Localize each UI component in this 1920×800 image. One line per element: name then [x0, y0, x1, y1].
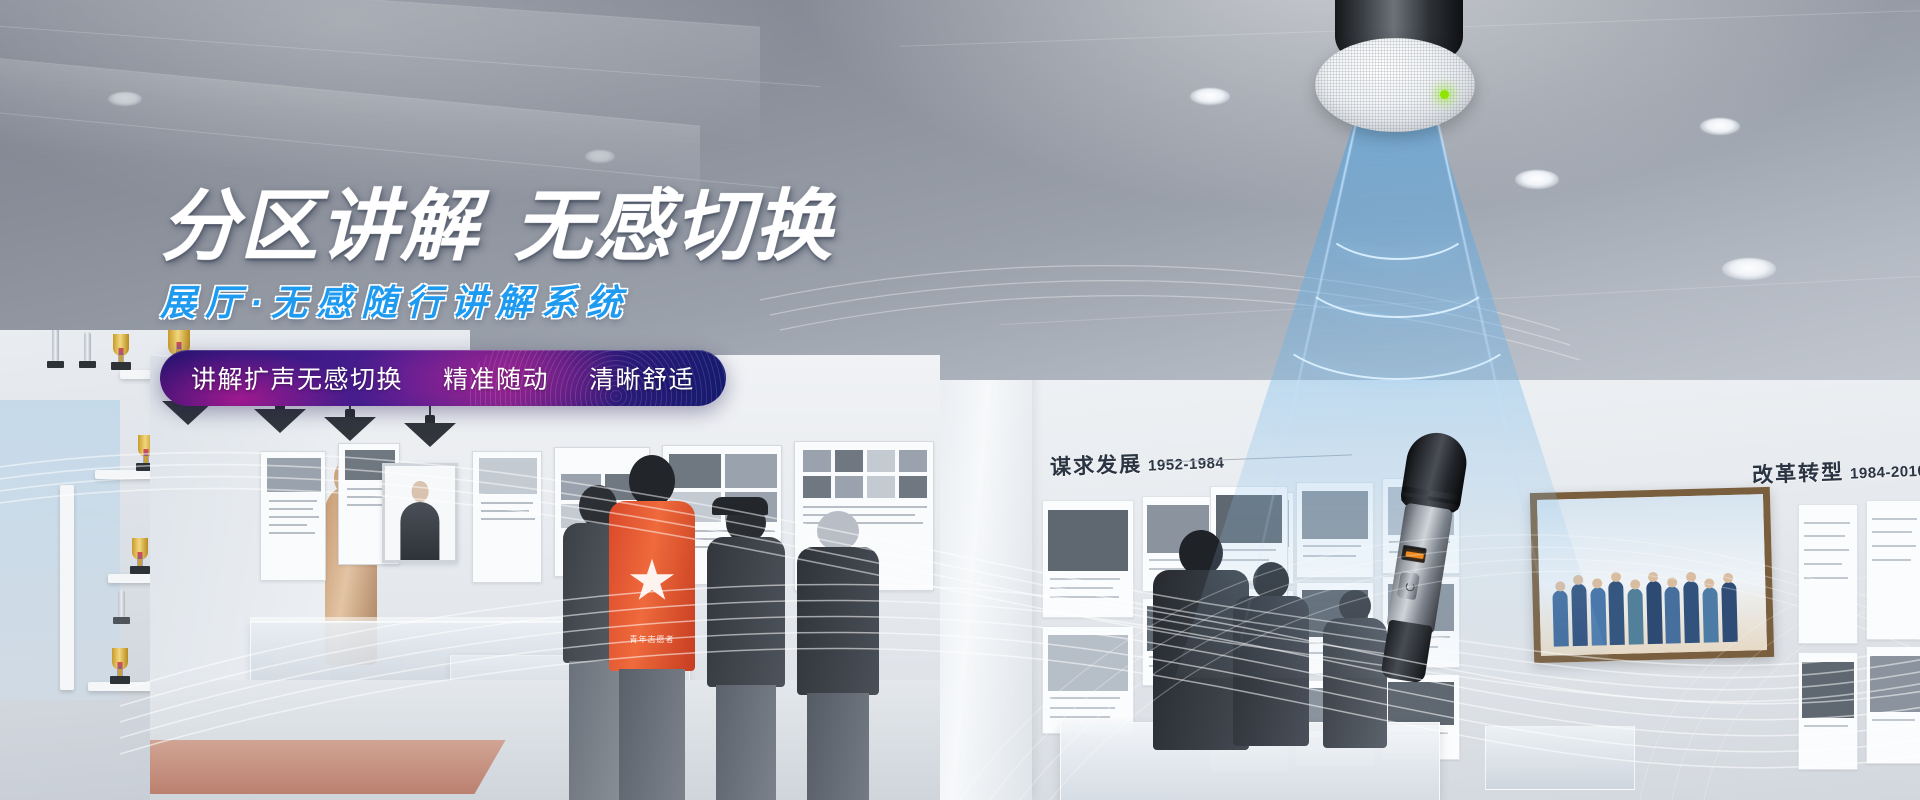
banner-copy-block: 分区讲解无感切换 展厅·无感随行讲解系统 讲解扩声无感切换 精准随动 清晰舒适	[160, 185, 834, 406]
floor-runner	[150, 740, 506, 794]
trophy-icon	[110, 334, 132, 372]
downlight-icon	[1515, 170, 1559, 189]
feature-pill: 讲解扩声无感切换 精准随动 清晰舒适	[160, 350, 726, 406]
sound-wave-arc	[1268, 258, 1526, 380]
shelf-upright	[60, 485, 74, 690]
feature-item-1: 讲解扩声无感切换	[191, 360, 403, 396]
page-title: 分区讲解无感切换	[160, 185, 834, 268]
award-statuette-icon	[84, 332, 91, 362]
display-case	[1485, 726, 1635, 790]
mic-battery-cap	[1380, 619, 1433, 683]
history-panel	[1042, 626, 1134, 734]
visitor-person	[796, 511, 880, 800]
mic-power-button[interactable]	[1396, 571, 1421, 602]
history-panel	[1866, 500, 1920, 640]
volunteer-star-emblem	[629, 559, 675, 603]
history-panel	[1798, 652, 1858, 770]
title-line-1: 分区讲解	[160, 182, 480, 270]
downlight-icon	[585, 150, 615, 163]
award-statuette-icon	[118, 590, 125, 618]
feature-item-3: 清晰舒适	[589, 360, 695, 396]
award-statuette-icon	[52, 330, 59, 362]
speaker-grill	[1315, 38, 1475, 132]
exhibition-hall-center: 青年志愿者	[150, 355, 940, 800]
downlight-icon	[108, 92, 142, 106]
headline-years: 1984-2010	[1850, 463, 1920, 483]
exhibit-headline-right: 改革转型1984-2010	[1751, 453, 1920, 490]
portrait-photo	[382, 463, 458, 563]
exhibit-panel	[260, 451, 326, 581]
visitor-person	[706, 503, 786, 800]
history-panel	[1866, 646, 1920, 764]
downlight-icon	[1722, 258, 1776, 280]
mic-body	[1386, 503, 1453, 635]
volunteer-vest-text: 青年志愿者	[630, 634, 675, 645]
headline-title: 改革转型	[1752, 461, 1845, 488]
promo-banner: 青年志愿者 谋求发展1952-1984 改革转型1984-2010	[0, 0, 1920, 800]
history-panel	[1798, 504, 1858, 644]
trophy-icon	[128, 538, 152, 576]
history-panel	[1042, 500, 1134, 618]
exhibit-panel	[472, 451, 542, 583]
wall-column	[940, 380, 1032, 800]
downlight-icon	[1190, 88, 1230, 105]
exhibit-headline-left: 谋求发展1952-1984	[1049, 445, 1224, 482]
trophy-icon	[108, 648, 132, 686]
headline-years: 1952-1984	[1148, 455, 1225, 475]
page-subtitle: 展厅·无感随行讲解系统	[160, 274, 834, 326]
headline-title: 谋求发展	[1050, 453, 1143, 480]
feature-item-2: 精准随动	[443, 360, 549, 396]
title-line-2: 无感切换	[514, 182, 834, 270]
cap-icon	[712, 497, 768, 515]
downlight-icon	[1700, 118, 1740, 135]
display-case-top	[250, 617, 580, 623]
visitor-volunteer: 青年志愿者	[608, 455, 696, 800]
speaker-status-led	[1440, 90, 1449, 99]
